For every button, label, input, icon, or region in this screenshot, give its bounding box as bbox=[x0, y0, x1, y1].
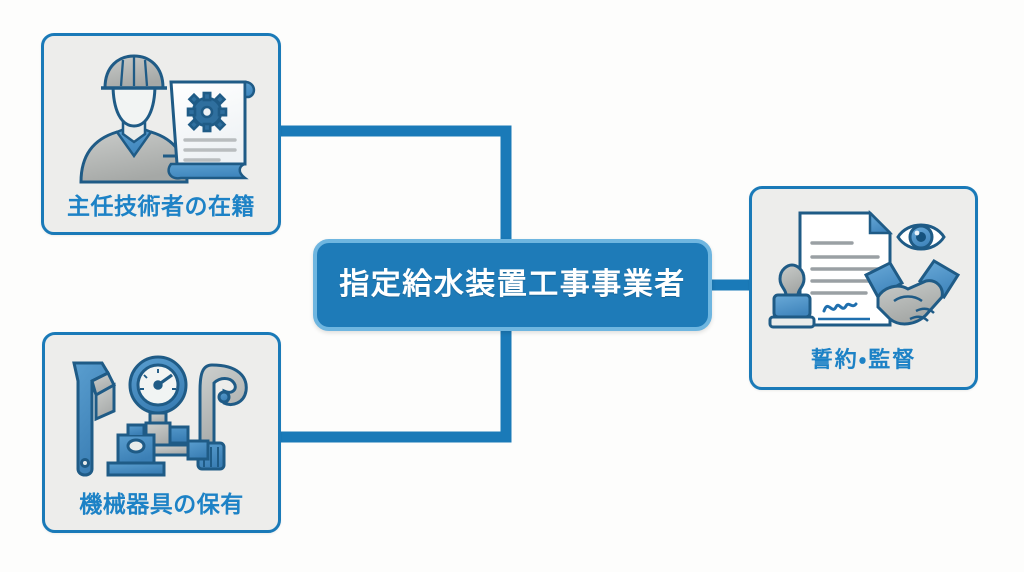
node-chief-engineer[interactable]: 主任技術者の在籍 bbox=[41, 33, 281, 235]
contract-handshake-eye-icon bbox=[752, 189, 975, 349]
node-center-label: 指定給水装置工事事業者 bbox=[339, 270, 686, 300]
connector-chief-to-center bbox=[281, 131, 506, 250]
node-chief-engineer-label: 主任技術者の在籍 bbox=[67, 195, 255, 232]
node-pledge-label: 誓約・監督 bbox=[811, 349, 916, 387]
node-equipment[interactable]: 機械器具の保有 bbox=[42, 332, 281, 533]
diagram-canvas: 主任技術者の在籍 bbox=[0, 0, 1024, 572]
connector-equipment-to-center bbox=[281, 322, 506, 437]
plumbing-tools-icon bbox=[45, 335, 278, 493]
worker-with-certificate-icon bbox=[44, 36, 278, 195]
node-pledge[interactable]: 誓約・監督 bbox=[749, 186, 978, 390]
node-center[interactable]: 指定給水装置工事事業者 bbox=[313, 239, 712, 331]
node-equipment-label: 機械器具の保有 bbox=[79, 493, 244, 530]
